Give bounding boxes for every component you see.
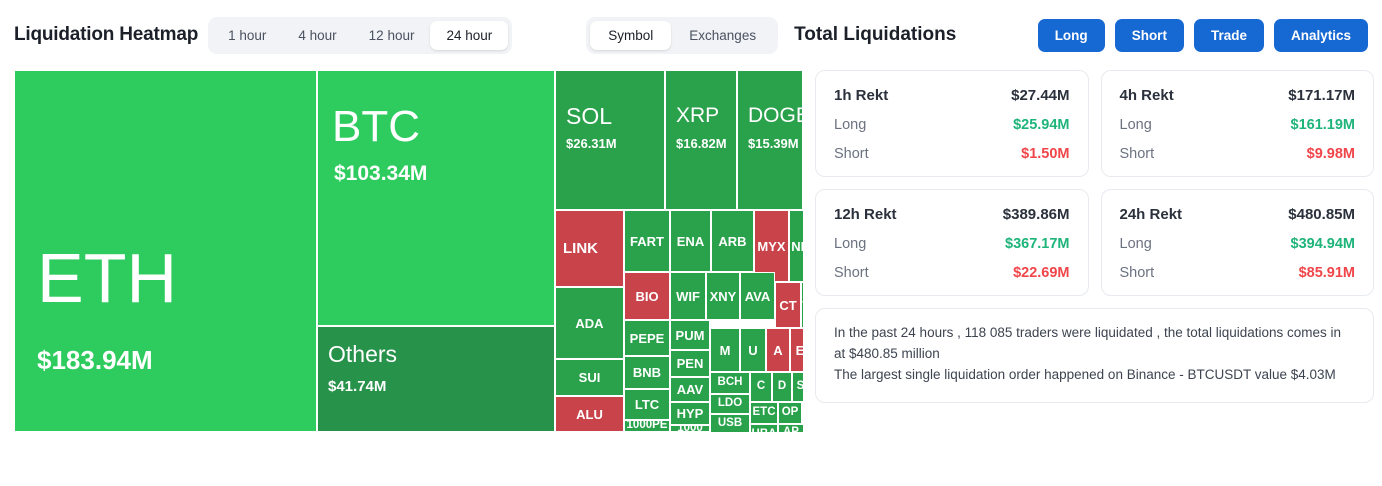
treemap-tile-symbol: CT bbox=[779, 299, 796, 312]
treemap-tile-symbol: S bbox=[797, 381, 803, 393]
rekt-total-value: $389.86M bbox=[1003, 206, 1070, 223]
treemap-tile-symbol: ALU bbox=[576, 408, 603, 421]
treemap-tile-ena[interactable]: ENA bbox=[670, 210, 711, 272]
treemap-tile-pepe[interactable]: PEPE bbox=[624, 320, 670, 356]
treemap-tile-etc[interactable]: ETC bbox=[750, 402, 778, 424]
treemap-tile-symbol: MYX bbox=[757, 240, 785, 253]
treemap-tile-symbol: M bbox=[720, 344, 731, 357]
treemap-tile-btc[interactable]: BTC $103.34M bbox=[317, 70, 555, 326]
treemap-tile-symbol: TR bbox=[802, 299, 803, 312]
treemap-tile-value: $15.39M bbox=[748, 137, 799, 150]
rekt-short-row: Short $22.69M bbox=[834, 265, 1070, 281]
view-tabs: Symbol Exchanges bbox=[586, 17, 778, 54]
rekt-period-label: 4h Rekt bbox=[1120, 87, 1174, 104]
treemap-tile-ltc[interactable]: LTC bbox=[624, 389, 670, 420]
short-value: $9.98M bbox=[1307, 146, 1355, 162]
treemap-tile-symbol: BCH bbox=[718, 377, 743, 389]
treemap-tile-symbol: ARB bbox=[718, 235, 746, 248]
treemap-tile-sui[interactable]: SUI bbox=[555, 359, 624, 396]
treemap-tile-sol[interactable]: SOL $26.31M bbox=[555, 70, 665, 210]
rekt-short-row: Short $9.98M bbox=[1120, 146, 1356, 162]
treemap-tile-pen[interactable]: PEN bbox=[670, 350, 710, 377]
treemap-tile-symbol: 1000 bbox=[677, 425, 703, 432]
treemap-tile-ap[interactable]: AP bbox=[778, 424, 803, 432]
short-value: $85.91M bbox=[1299, 265, 1355, 281]
treemap-tile-symbol: SUI bbox=[579, 371, 601, 384]
rekt-period-label: 24h Rekt bbox=[1120, 206, 1183, 223]
treemap-tile-symbol: LINK bbox=[563, 241, 598, 256]
treemap-tile-nea[interactable]: NEA bbox=[789, 210, 803, 282]
treemap-tile-symbol: OP bbox=[782, 407, 799, 419]
treemap-tile-symbol: BNB bbox=[633, 366, 661, 379]
treemap-tile-arb[interactable]: ARB bbox=[711, 210, 754, 272]
treemap-tile-aav[interactable]: AAV bbox=[670, 377, 710, 402]
treemap-tile-symbol: DOGE bbox=[748, 105, 803, 126]
summary-line-2: The largest single liquidation order hap… bbox=[834, 365, 1355, 386]
treemap-tile-symbol: PEPE bbox=[630, 332, 665, 345]
treemap-tile-bio[interactable]: BIO bbox=[624, 272, 670, 320]
rekt-total-row: 4h Rekt $171.17M bbox=[1120, 87, 1356, 104]
treemap-tile-doge[interactable]: DOGE $15.39M bbox=[737, 70, 803, 210]
treemap-tile-symbol: LDO bbox=[718, 398, 742, 410]
treemap-tile-symbol: HYP bbox=[677, 407, 704, 420]
long-label: Long bbox=[834, 117, 866, 133]
treemap-tile-xny[interactable]: XNY bbox=[706, 272, 740, 320]
long-label: Long bbox=[1120, 117, 1152, 133]
treemap-tile-hba[interactable]: HBA bbox=[750, 424, 778, 432]
treemap-tile-symbol: ETC bbox=[753, 407, 776, 419]
treemap-tile-usb[interactable]: USB bbox=[710, 414, 750, 432]
treemap-tile-symbol: D bbox=[778, 381, 786, 393]
short-label: Short bbox=[1120, 265, 1155, 281]
treemap-tile-symbol: E bbox=[796, 344, 803, 357]
treemap-tile-wif[interactable]: WIF bbox=[670, 272, 706, 320]
treemap-tile-value: $183.94M bbox=[37, 347, 153, 373]
treemap-tile-d[interactable]: D bbox=[772, 372, 792, 402]
rekt-card-4h[interactable]: 4h Rekt $171.17M Long $161.19M Short $9.… bbox=[1101, 70, 1375, 177]
treemap-tile-symbol: FART bbox=[630, 235, 664, 248]
rekt-total-value: $171.17M bbox=[1288, 87, 1355, 104]
view-tab-exchanges[interactable]: Exchanges bbox=[671, 21, 774, 50]
timeframe-tab-1h[interactable]: 1 hour bbox=[212, 21, 282, 50]
treemap-tile-1000[interactable]: 1000 bbox=[670, 425, 710, 432]
treemap-tile-fart[interactable]: FART bbox=[624, 210, 670, 272]
rekt-total-row: 1h Rekt $27.44M bbox=[834, 87, 1070, 104]
action-buttons: Long Short Trade Analytics bbox=[1038, 19, 1372, 52]
rekt-cards: 1h Rekt $27.44M Long $25.94M Short $1.50… bbox=[815, 70, 1374, 296]
treemap-tile-u[interactable]: U bbox=[740, 328, 766, 372]
treemap-tile-ada[interactable]: ADA bbox=[555, 287, 624, 359]
treemap-tile-symbol: 1000PE bbox=[627, 420, 668, 432]
short-label: Short bbox=[834, 265, 869, 281]
treemap-tile-link[interactable]: LINK bbox=[555, 210, 624, 287]
timeframe-tab-24h[interactable]: 24 hour bbox=[430, 21, 508, 50]
treemap-tile-symbol: AAV bbox=[677, 383, 703, 396]
treemap-tile-symbol: XRP bbox=[676, 105, 719, 126]
timeframe-tab-4h[interactable]: 4 hour bbox=[282, 21, 352, 50]
treemap-tile-symbol: ETH bbox=[37, 243, 177, 313]
treemap-tile-symbol: XNY bbox=[710, 290, 737, 303]
rekt-long-row: Long $394.94M bbox=[1120, 236, 1356, 252]
treemap-tile-value: $16.82M bbox=[676, 137, 727, 150]
treemap-tile-alu[interactable]: ALU bbox=[555, 396, 624, 432]
treemap-tile-value: $103.34M bbox=[334, 163, 427, 184]
treemap-tile-symbol: NEA bbox=[791, 240, 803, 253]
treemap-tile-1000pe[interactable]: 1000PE bbox=[624, 420, 670, 432]
treemap-tile-symbol: ENA bbox=[677, 235, 704, 248]
treemap-tile-bch[interactable]: BCH bbox=[710, 372, 750, 394]
rekt-total-row: 24h Rekt $480.85M bbox=[1120, 206, 1356, 223]
treemap-tile-ldo[interactable]: LDO bbox=[710, 394, 750, 414]
short-value: $22.69M bbox=[1013, 265, 1069, 281]
page-body: ETH $183.94M BTC $103.34M Others $41.74M… bbox=[0, 70, 1382, 486]
treemap-tile-value: $26.31M bbox=[566, 137, 617, 150]
treemap-tile-op[interactable]: OP bbox=[778, 402, 802, 424]
long-label: Long bbox=[1120, 236, 1152, 252]
short-button[interactable]: Short bbox=[1115, 19, 1184, 52]
long-value: $25.94M bbox=[1013, 117, 1069, 133]
treemap-tile-tr[interactable]: TR bbox=[801, 282, 803, 328]
rekt-card-24h[interactable]: 24h Rekt $480.85M Long $394.94M Short $8… bbox=[1101, 189, 1375, 296]
rekt-card-1h[interactable]: 1h Rekt $27.44M Long $25.94M Short $1.50… bbox=[815, 70, 1089, 177]
trade-button[interactable]: Trade bbox=[1194, 19, 1264, 52]
treemap-tile-symbol: BIO bbox=[635, 290, 658, 303]
treemap-tile-symbol: ADA bbox=[575, 317, 603, 330]
rekt-total-row: 12h Rekt $389.86M bbox=[834, 206, 1070, 223]
rekt-short-row: Short $1.50M bbox=[834, 146, 1070, 162]
long-button[interactable]: Long bbox=[1038, 19, 1105, 52]
long-value: $161.19M bbox=[1291, 117, 1356, 133]
timeframe-tab-12h[interactable]: 12 hour bbox=[353, 21, 431, 50]
rekt-period-label: 1h Rekt bbox=[834, 87, 888, 104]
treemap-tile-symbol: AP bbox=[783, 427, 799, 432]
rekt-period-label: 12h Rekt bbox=[834, 206, 897, 223]
short-value: $1.50M bbox=[1021, 146, 1069, 162]
treemap-tile-pum[interactable]: PUM bbox=[670, 320, 710, 350]
treemap-tile-xrp[interactable]: XRP $16.82M bbox=[665, 70, 737, 210]
rekt-long-row: Long $367.17M bbox=[834, 236, 1070, 252]
treemap-tile-c2[interactable]: C bbox=[750, 372, 772, 402]
treemap-tile-symbol: SOL bbox=[566, 105, 612, 128]
short-label: Short bbox=[1120, 146, 1155, 162]
treemap-tile-symbol: PEN bbox=[677, 357, 704, 370]
treemap-tile-symbol: WIF bbox=[676, 290, 700, 303]
rekt-card-12h[interactable]: 12h Rekt $389.86M Long $367.17M Short $2… bbox=[815, 189, 1089, 296]
timeframe-tabs: 1 hour 4 hour 12 hour 24 hour bbox=[208, 17, 512, 54]
treemap-tile-others[interactable]: Others $41.74M bbox=[317, 326, 555, 432]
treemap-tile-e[interactable]: E bbox=[790, 328, 803, 372]
treemap-tile-a[interactable]: A bbox=[766, 328, 790, 372]
rekt-long-row: Long $25.94M bbox=[834, 117, 1070, 133]
view-tab-symbol[interactable]: Symbol bbox=[590, 21, 671, 50]
long-label: Long bbox=[834, 236, 866, 252]
treemap-tile-eth[interactable]: ETH $183.94M bbox=[14, 70, 317, 432]
treemap-tile-s[interactable]: S bbox=[792, 372, 803, 402]
treemap-tile-c4[interactable]: C bbox=[802, 402, 803, 424]
summary-line-1: In the past 24 hours , 118 085 traders w… bbox=[834, 323, 1355, 365]
total-liquidations-title: Total Liquidations bbox=[794, 24, 956, 46]
treemap-tile-ava[interactable]: AVA bbox=[740, 272, 775, 320]
treemap-tile-symbol: BTC bbox=[332, 105, 420, 149]
rekt-short-row: Short $85.91M bbox=[1120, 265, 1356, 281]
treemap-tile-symbol: USB bbox=[718, 418, 742, 430]
page-header: Liquidation Heatmap 1 hour 4 hour 12 hou… bbox=[0, 0, 1382, 70]
treemap-tile-symbol: Others bbox=[328, 343, 397, 366]
treemap-tile-symbol: HBA bbox=[752, 429, 777, 432]
rekt-total-value: $480.85M bbox=[1288, 206, 1355, 223]
long-value: $367.17M bbox=[1005, 236, 1070, 252]
treemap-tile-symbol: AVA bbox=[745, 290, 771, 303]
long-value: $394.94M bbox=[1291, 236, 1356, 252]
liquidation-treemap[interactable]: ETH $183.94M BTC $103.34M Others $41.74M… bbox=[14, 70, 803, 432]
treemap-tile-bnb[interactable]: BNB bbox=[624, 356, 670, 389]
treemap-tile-ct[interactable]: CT bbox=[775, 282, 801, 328]
rekt-total-value: $27.44M bbox=[1011, 87, 1069, 104]
treemap-tile-symbol: PUM bbox=[676, 329, 705, 342]
treemap-tile-symbol: C bbox=[757, 381, 765, 393]
short-label: Short bbox=[834, 146, 869, 162]
treemap-tile-value: $41.74M bbox=[328, 379, 386, 394]
treemap-tile-symbol: U bbox=[748, 344, 757, 357]
treemap-tile-hyp[interactable]: HYP bbox=[670, 402, 710, 425]
page-title: Liquidation Heatmap bbox=[14, 24, 198, 46]
treemap-tile-symbol: LTC bbox=[635, 398, 659, 411]
treemap-tile-m[interactable]: M bbox=[710, 328, 740, 372]
treemap-tile-symbol: A bbox=[773, 344, 782, 357]
analytics-button[interactable]: Analytics bbox=[1274, 19, 1368, 52]
liquidation-stats-panel: 1h Rekt $27.44M Long $25.94M Short $1.50… bbox=[803, 70, 1374, 486]
liquidation-summary: In the past 24 hours , 118 085 traders w… bbox=[815, 308, 1374, 403]
rekt-long-row: Long $161.19M bbox=[1120, 117, 1356, 133]
